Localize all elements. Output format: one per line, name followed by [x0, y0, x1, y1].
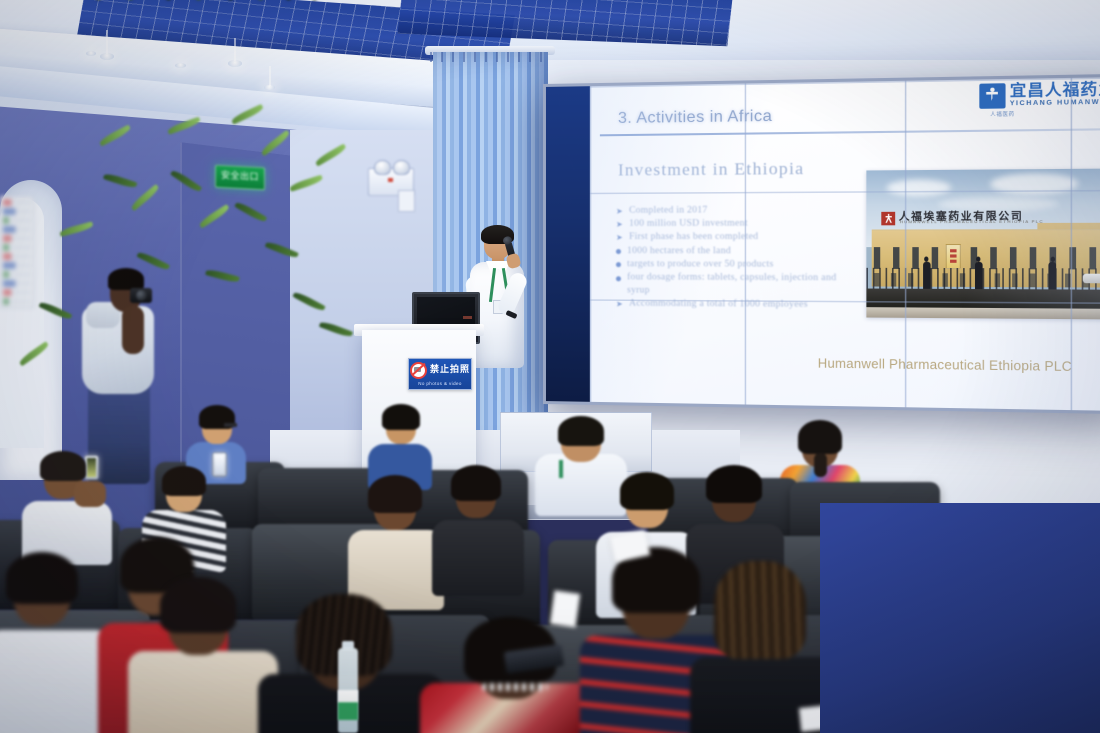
ceiling-spot-stem: [269, 66, 271, 86]
photo-vertical-banner: [946, 244, 961, 269]
slide-title: 3. Activities in Africa: [618, 108, 772, 128]
wall-socket: [398, 190, 415, 212]
slide-bullet: ➤100 million USD investment: [616, 217, 854, 231]
factory-photo: 人福埃塞药业有限公司 HUMANWELL PHARMACEUTICAL ETHI…: [866, 168, 1100, 319]
bullet-arrow-icon: ➤: [616, 298, 623, 311]
slide-bullet: ➤First phase has been completed: [616, 231, 854, 245]
bullet-arrow-icon: ➤: [616, 205, 623, 218]
slide-bullet: ➤Accommodating a total of 1000 employees: [616, 298, 854, 313]
logo-sub-text: 人福医药: [990, 110, 1015, 118]
slide-bullet-text: Completed in 2017: [629, 204, 708, 218]
company-logo: 宜昌人福药业 YICHANG HUMANWELL: [979, 81, 1100, 108]
audience-member: [348, 480, 444, 600]
emergency-lamp-left: [374, 160, 391, 175]
curtain-hooks: [430, 52, 550, 62]
ceiling-spot-stem: [234, 38, 236, 61]
no-photography-sign: 禁止拍照 No photos & video: [408, 358, 472, 390]
necklace: [482, 683, 548, 691]
ceiling-spot-light: [175, 63, 186, 68]
photo-sign-logo-icon: [882, 211, 896, 225]
ceiling-spot-stem: [106, 30, 108, 54]
exit-sign-label: 安全出口: [221, 172, 259, 183]
bullet-dot-icon: [616, 262, 621, 267]
ceiling-spot-light: [86, 51, 96, 56]
audience-member: [22, 455, 112, 555]
bullet-arrow-icon: ➤: [616, 231, 623, 244]
emergency-lamp-right: [393, 160, 410, 175]
bullet-arrow-icon: ➤: [616, 218, 623, 231]
audience-member: [432, 470, 524, 585]
photo-window-row: [874, 247, 1100, 270]
water-bottle-label: [338, 690, 358, 720]
slide-bullet-text: 100 million USD investment: [629, 218, 748, 232]
wall-info-board: [0, 196, 34, 308]
slide-bullet: ➤Completed in 2017: [616, 204, 854, 218]
slide-subtitle: Investment in Ethiopia: [618, 159, 804, 181]
slide-bullet-list: ➤Completed in 2017➤100 million USD inves…: [616, 204, 854, 313]
photographer-arm: [122, 306, 144, 354]
photographer-hair: [108, 268, 144, 290]
photo-car: [1083, 274, 1100, 284]
logo-chinese-text: 宜昌人福药业: [1010, 82, 1100, 100]
slide-bullet-text: First phase has been completed: [629, 231, 758, 245]
photo-sign-english: HUMANWELL PHARMACEUTICAL ETHIOPIA PLC: [900, 219, 1044, 225]
audience-member-front: [0, 560, 111, 733]
photo-person: [923, 261, 931, 288]
bullet-dot-icon: [616, 249, 621, 254]
logo-english-text: YICHANG HUMANWELL: [1010, 100, 1100, 108]
slide-bullet-text: 1000 hectares of the land: [627, 245, 731, 258]
slide-bullet-text: targets to produce over 50 products: [627, 258, 774, 272]
photo-person: [975, 261, 983, 288]
handout-paper[interactable]: [550, 590, 580, 627]
led-video-wall[interactable]: 宜昌人福药业 YICHANG HUMANWELL 人福医药 3. Activit…: [543, 74, 1100, 415]
audience-member-front: [128, 585, 278, 733]
photo-building-sign: 人福埃塞药业有限公司 HUMANWELL PHARMACEUTICAL ETHI…: [882, 209, 1070, 226]
slide-caption: Humanwell Pharmaceutical Ethiopia PLC: [818, 356, 1072, 374]
no-photography-icon: [410, 362, 427, 379]
slide-title-rule: [600, 128, 1100, 136]
presentation-slide: 宜昌人福药业 YICHANG HUMANWELL 人福医药 3. Activit…: [590, 77, 1100, 411]
running-figure-logo-icon: [979, 83, 1005, 109]
conference-room-photo: 安全出口 宜昌人福药业 YICHANG HUMANWELL 人福医药: [0, 0, 1100, 733]
podium-monitor-reflection: [463, 316, 472, 319]
slide-bullet: targets to produce over 50 products: [616, 258, 854, 272]
ceiling-spot-light: [100, 53, 114, 60]
slide-bullet-text: Accommodating a total of 1000 employees: [629, 298, 808, 313]
photo-person: [1048, 262, 1056, 289]
camera[interactable]: [130, 288, 152, 303]
video-wall-side-band: [546, 86, 590, 402]
slide-bullet: four dosage forms: tablets, capsules, in…: [616, 271, 854, 299]
bullet-dot-icon: [616, 276, 621, 281]
floor-carpet-right: [820, 503, 1100, 733]
photo-kerb: [866, 307, 1100, 319]
smartphone-recording[interactable]: [212, 452, 227, 477]
ceiling-spot-light: [228, 60, 242, 67]
no-photo-sign-english: No photos & video: [418, 381, 462, 386]
emergency-light-indicator: [388, 178, 393, 182]
emergency-exit-sign: 安全出口: [215, 165, 265, 191]
no-photo-sign-chinese: 禁止拍照: [430, 366, 470, 375]
audience-member: [368, 408, 432, 478]
photo-cloud: [887, 179, 951, 196]
slide-bullet: 1000 hectares of the land: [616, 245, 854, 259]
slide-bullet-text: four dosage forms: tablets, capsules, in…: [627, 271, 854, 299]
